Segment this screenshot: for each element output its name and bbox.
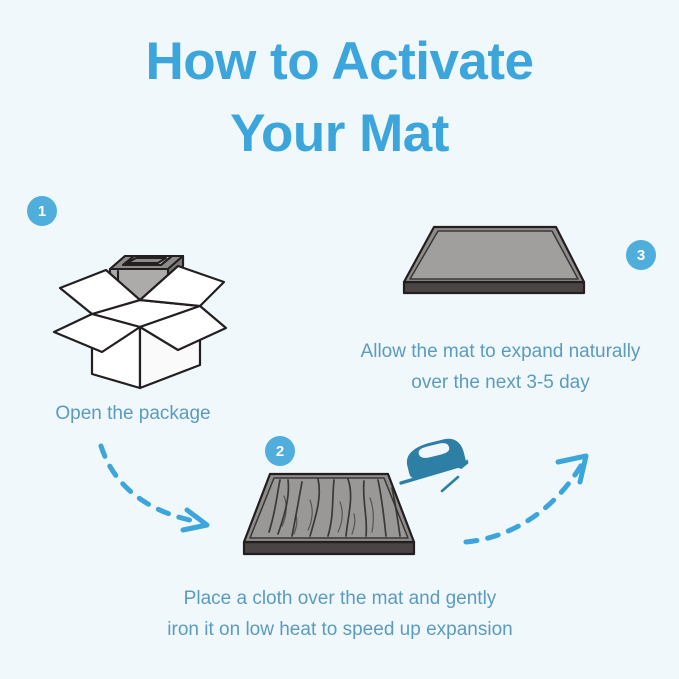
page-title-line-2: Your Mat (0, 98, 679, 170)
infographic-canvas: How to Activate Your Mat 1 (0, 0, 679, 679)
step-3-caption: Allow the mat to expand naturally over t… (322, 337, 679, 399)
page-title: How to Activate Your Mat (0, 26, 679, 170)
dashed-arrow-step2-to-step3 (460, 448, 600, 558)
open-box-with-packed-mat-icon (48, 222, 232, 395)
wrinkled-mat-icon (236, 466, 422, 569)
page-title-line-1: How to Activate (0, 26, 679, 98)
step-2-caption-line-1: Place a cloth over the mat and gently (110, 584, 570, 615)
step-2-caption: Place a cloth over the mat and gently ir… (110, 584, 570, 646)
dashed-arrow-step1-to-step2 (95, 440, 225, 545)
step-1-caption: Open the package (0, 399, 266, 430)
step-3-caption-line-2: over the next 3-5 day (322, 368, 679, 399)
step-1-caption-line: Open the package (0, 399, 266, 430)
flat-mat-icon (398, 220, 590, 307)
step-badge-3: 3 (626, 240, 656, 270)
step-3-caption-line-1: Allow the mat to expand naturally (322, 337, 679, 368)
step-2-caption-line-2: iron it on low heat to speed up expansio… (110, 615, 570, 646)
step-badge-2: 2 (265, 436, 295, 466)
